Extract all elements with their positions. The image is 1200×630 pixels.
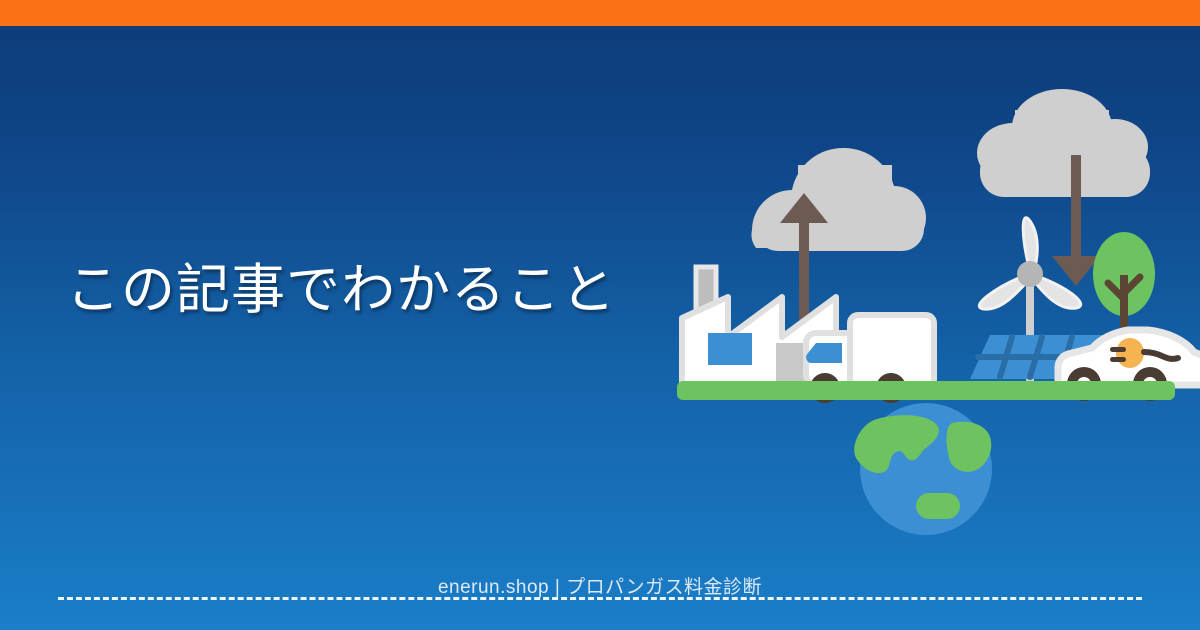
- tree-icon: [1093, 232, 1155, 327]
- footer-divider: [58, 597, 1142, 600]
- factory-window-icon: [708, 333, 752, 365]
- footer-branding: enerun.shop | プロパンガス料金診断: [0, 572, 1200, 599]
- earth-globe-icon: [854, 403, 992, 535]
- energy-transition-illustration: [660, 75, 1200, 545]
- top-accent-bar: [0, 0, 1200, 26]
- cloud-absorption-icon: [977, 89, 1150, 197]
- page-title: この記事でわかること: [66, 258, 616, 323]
- slide-canvas: この記事でわかること: [0, 0, 1200, 630]
- cloud-emission-icon: [751, 148, 926, 251]
- ground-bar: [677, 381, 1175, 400]
